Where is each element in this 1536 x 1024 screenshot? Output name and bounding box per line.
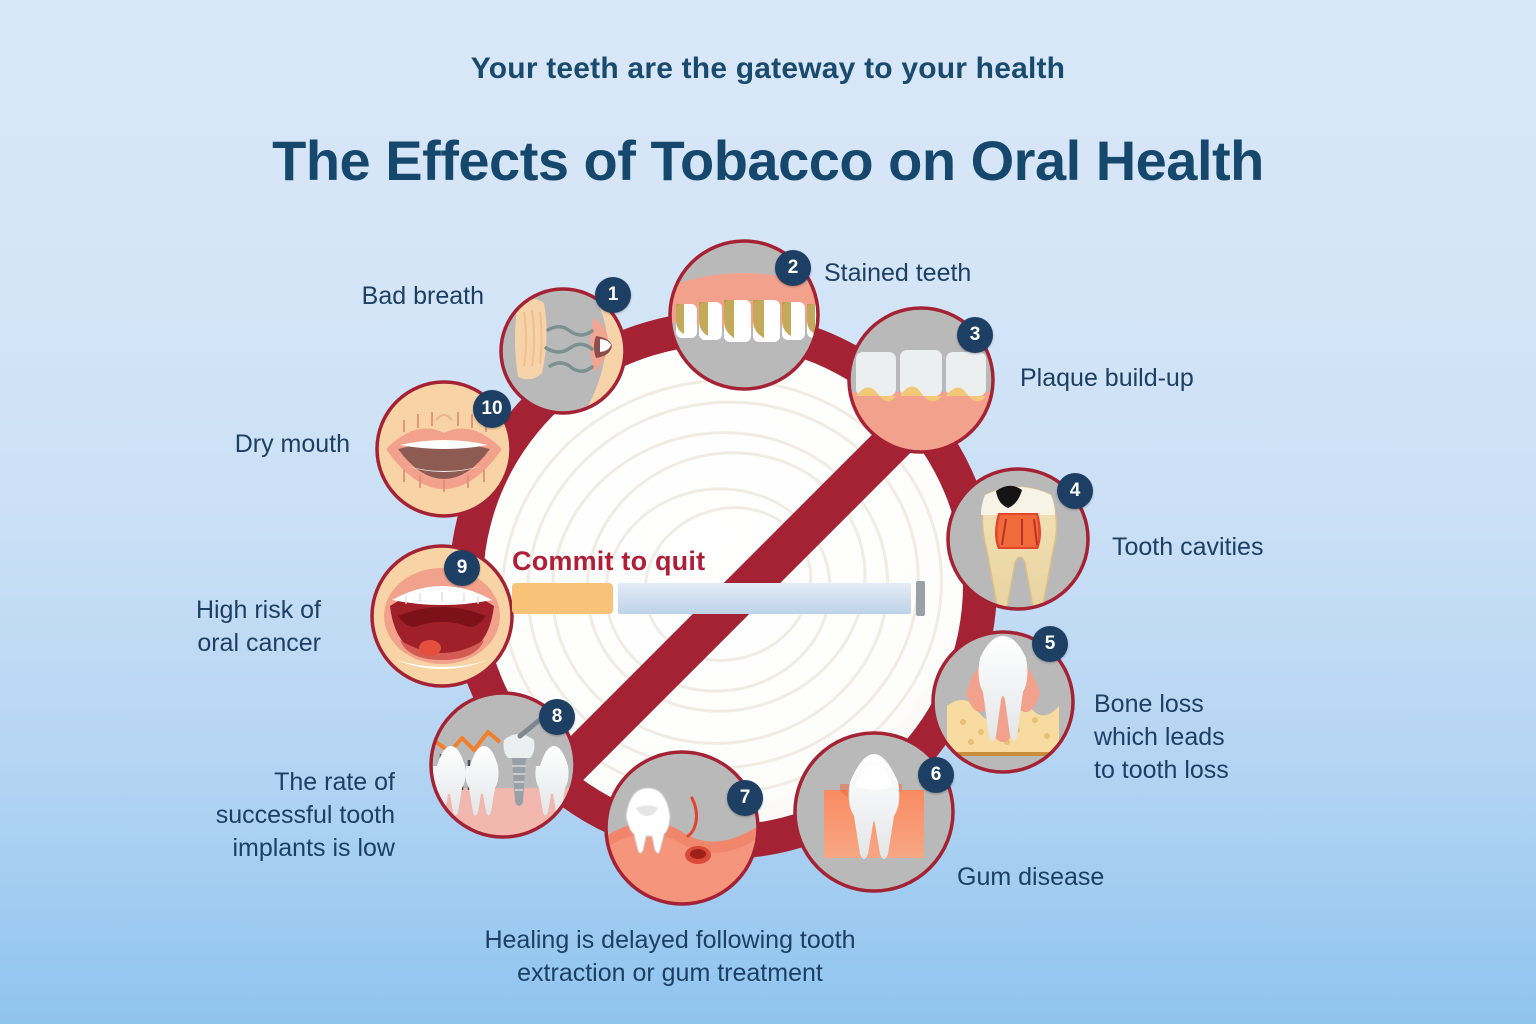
- badge-2[interactable]: 2: [775, 250, 811, 286]
- label-stained-teeth: Stained teeth: [824, 257, 1154, 290]
- badge-4[interactable]: 4: [1057, 473, 1093, 509]
- wheel-icon-9-oral-cancer[interactable]: [372, 546, 512, 686]
- cigarette-graphic: [512, 581, 924, 615]
- cigarette-filter: [512, 583, 613, 614]
- badge-6[interactable]: 6: [918, 757, 954, 793]
- wheel-icon-7-delayed-healing[interactable]: [606, 752, 758, 904]
- label-tooth-cavities: Tooth cavities: [1112, 531, 1442, 564]
- label-delayed-healing: Healing is delayed following tooth extra…: [420, 924, 920, 990]
- wheel-icon-6-gum-disease[interactable]: [795, 733, 953, 891]
- badge-9[interactable]: 9: [444, 550, 480, 586]
- badge-10[interactable]: 10: [473, 390, 511, 428]
- no-smoking-wheel: [0, 0, 1536, 1024]
- cigarette-tip: [916, 581, 925, 616]
- label-bone-loss: Bone loss which leads to tooth loss: [1094, 688, 1394, 787]
- infographic-canvas: Your teeth are the gateway to your healt…: [0, 0, 1536, 1024]
- badge-7[interactable]: 7: [727, 780, 763, 816]
- label-dry-mouth: Dry mouth: [50, 428, 350, 461]
- cigarette-body: [618, 583, 911, 614]
- label-oral-cancer: High risk of oral cancer: [60, 594, 321, 660]
- label-tooth-implants: The rate of successful tooth implants is…: [95, 766, 395, 865]
- badge-1[interactable]: 1: [595, 277, 631, 313]
- badge-3[interactable]: 3: [957, 317, 993, 353]
- commit-to-quit-label: Commit to quit: [512, 546, 705, 577]
- badge-5[interactable]: 5: [1032, 626, 1068, 662]
- label-plaque-buildup: Plaque build-up: [1020, 362, 1350, 395]
- label-gum-disease: Gum disease: [957, 861, 1287, 894]
- label-bad-breath: Bad breath: [152, 280, 484, 313]
- badge-8[interactable]: 8: [539, 699, 575, 735]
